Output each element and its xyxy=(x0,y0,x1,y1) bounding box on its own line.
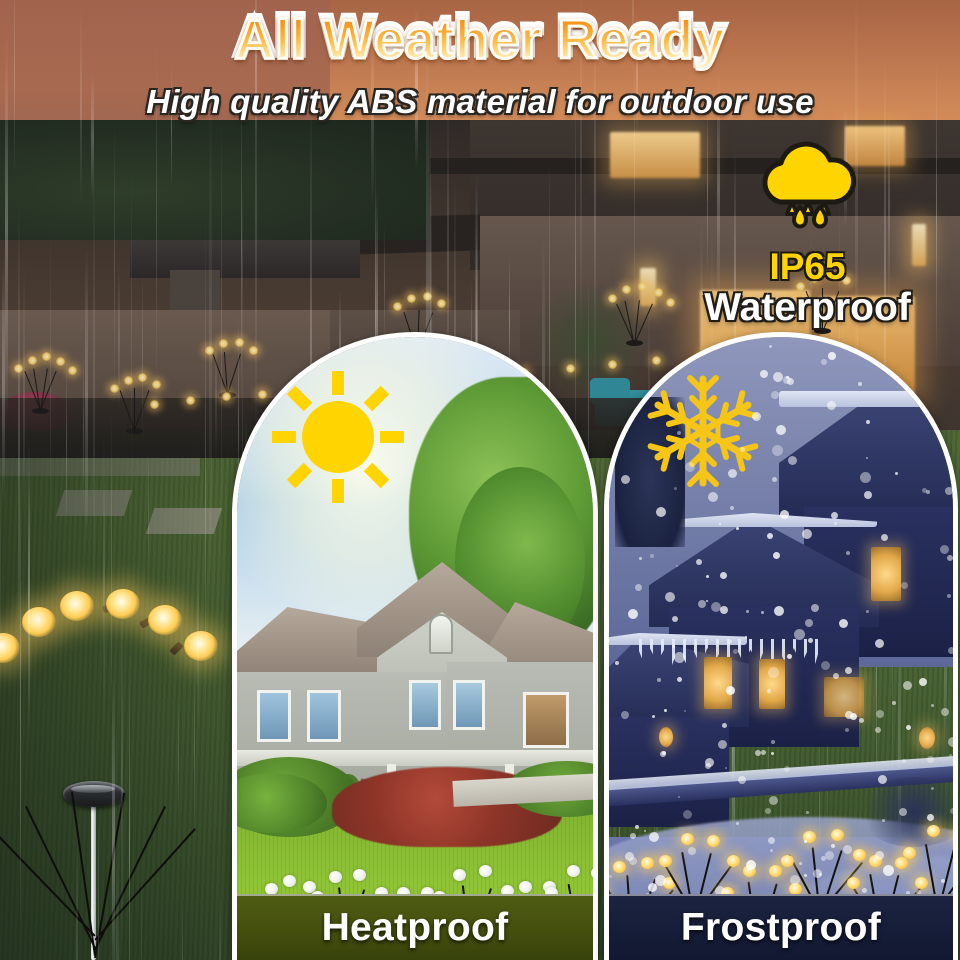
ip-rating-text: IP65 xyxy=(690,247,925,287)
frostproof-label: Frostproof xyxy=(609,896,953,960)
heatproof-band: Heatproof xyxy=(237,894,593,960)
waterproof-label: Waterproof xyxy=(690,287,925,329)
light-bulb xyxy=(148,605,182,635)
waterproof-badge: IP65 Waterproof xyxy=(690,140,925,315)
panel-heatproof: Heatproof xyxy=(232,332,598,960)
light-bulb xyxy=(106,589,140,619)
light-bulb xyxy=(184,631,218,661)
heatproof-label: Heatproof xyxy=(237,896,593,960)
page-subtitle: High quality ABS material for outdoor us… xyxy=(0,82,960,122)
light-bulb xyxy=(0,633,20,663)
light-bulb xyxy=(22,607,56,637)
light-bulb xyxy=(60,591,94,621)
frostproof-band: Frostproof xyxy=(609,894,953,960)
sun-icon xyxy=(263,363,413,511)
product-feature-image: All Weather Ready All Weather Ready High… xyxy=(0,0,960,960)
solar-firefly-light-product xyxy=(8,585,238,955)
headline-wrap: All Weather Ready All Weather Ready xyxy=(0,4,960,68)
page-title: All Weather Ready xyxy=(0,8,960,70)
snowfall xyxy=(609,337,953,960)
rain-cloud-icon xyxy=(748,140,868,245)
panel-frostproof: Frostproof xyxy=(604,332,958,960)
